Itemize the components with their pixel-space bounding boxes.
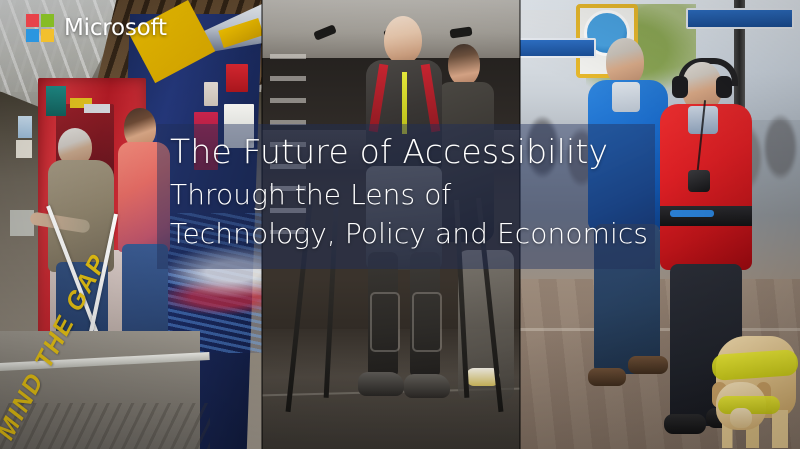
red-square bbox=[26, 14, 39, 27]
door-vent-panel bbox=[10, 210, 34, 236]
headphone-earcup-left bbox=[672, 76, 688, 98]
train-warning-label bbox=[226, 64, 248, 92]
pavement-kerb-line bbox=[520, 328, 800, 331]
blue-jacket-man-shoe-left bbox=[588, 368, 626, 386]
guide-dog-snout bbox=[730, 408, 752, 428]
door-notice-sticker bbox=[18, 116, 32, 138]
page-subtitle-line-2: Technology, Policy and Economics bbox=[170, 216, 648, 252]
title-block: The Future of Accessibility Through the … bbox=[157, 124, 655, 269]
exo-user-head bbox=[384, 16, 422, 64]
exo-boot-left bbox=[358, 372, 404, 396]
direction-sign-2 bbox=[520, 38, 596, 58]
page-title: The Future of Accessibility bbox=[170, 132, 608, 172]
door-notice-sticker-2 bbox=[16, 140, 32, 158]
exo-brace-right bbox=[412, 292, 442, 352]
train-label-small bbox=[204, 82, 218, 106]
direction-sign bbox=[686, 8, 794, 29]
blue-jacket-man-head bbox=[606, 38, 644, 86]
microsoft-wordmark: Microsoft bbox=[64, 15, 167, 41]
exo-boot-right bbox=[404, 374, 450, 398]
blue-square bbox=[26, 29, 39, 42]
headphone-earcup-right bbox=[716, 76, 732, 98]
blue-jacket-man-shoe-right bbox=[628, 356, 668, 374]
microsoft-logo-icon bbox=[26, 14, 54, 42]
door-teal-sticker bbox=[46, 86, 66, 116]
bumbag-blue-trim bbox=[670, 210, 714, 217]
red-jacket-man-shoe-left bbox=[664, 414, 706, 434]
page-subtitle-line-1: Through the Lens of bbox=[170, 177, 451, 213]
exo-brace-left bbox=[370, 292, 400, 352]
blue-jacket-man-collar bbox=[612, 82, 640, 112]
title-slide: 1 MIND THE GAP bbox=[0, 0, 800, 449]
door-sign-strip bbox=[84, 104, 110, 113]
microsoft-logo: Microsoft bbox=[26, 14, 167, 42]
assistant-head bbox=[448, 44, 480, 86]
green-square bbox=[41, 14, 54, 27]
handheld-device-icon bbox=[688, 170, 710, 192]
yellow-square bbox=[41, 29, 54, 42]
